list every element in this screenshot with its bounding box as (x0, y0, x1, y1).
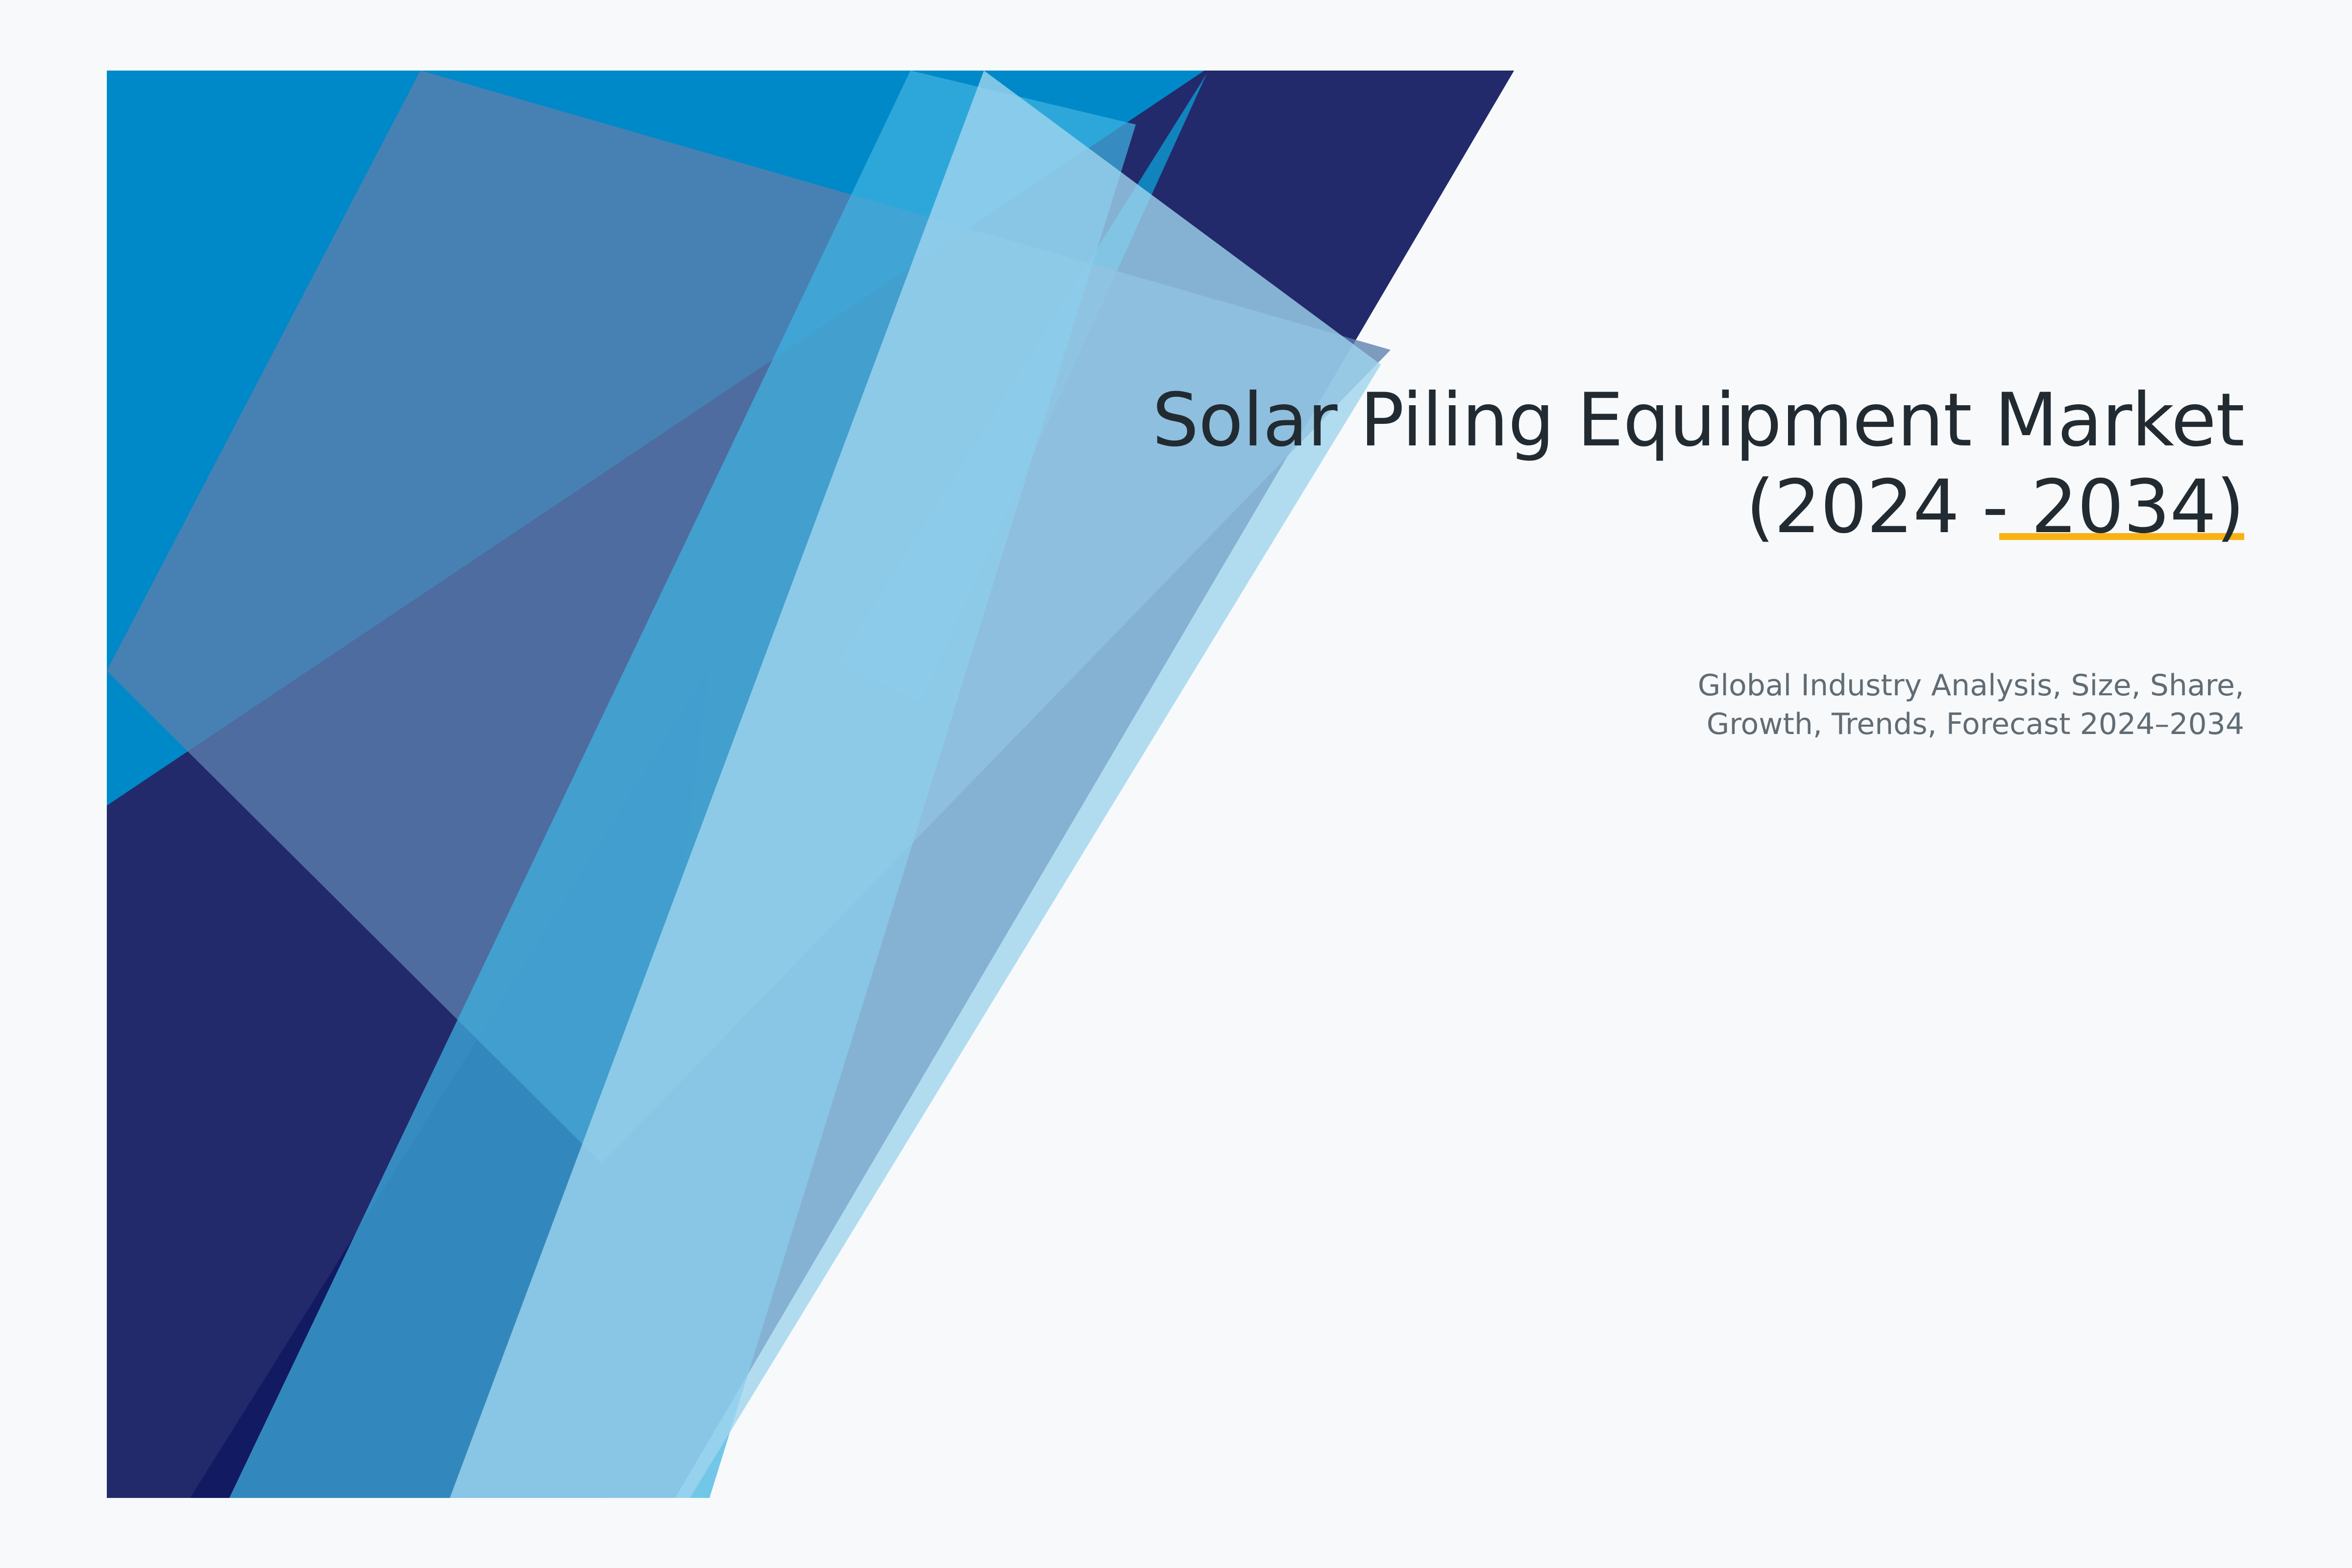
artwork-svg (107, 71, 1516, 1498)
page-title: Solar Piling Equipment Market (2024 - 20… (1142, 377, 2244, 551)
cover-text-block: Solar Piling Equipment Market (2024 - 20… (1142, 377, 2244, 744)
page-subtitle: Global Industry Analysis, Size, Share, G… (1142, 666, 2244, 744)
abstract-geometric-cover-graphic (107, 71, 1516, 1498)
cover-page: Solar Piling Equipment Market (2024 - 20… (0, 0, 2352, 1568)
